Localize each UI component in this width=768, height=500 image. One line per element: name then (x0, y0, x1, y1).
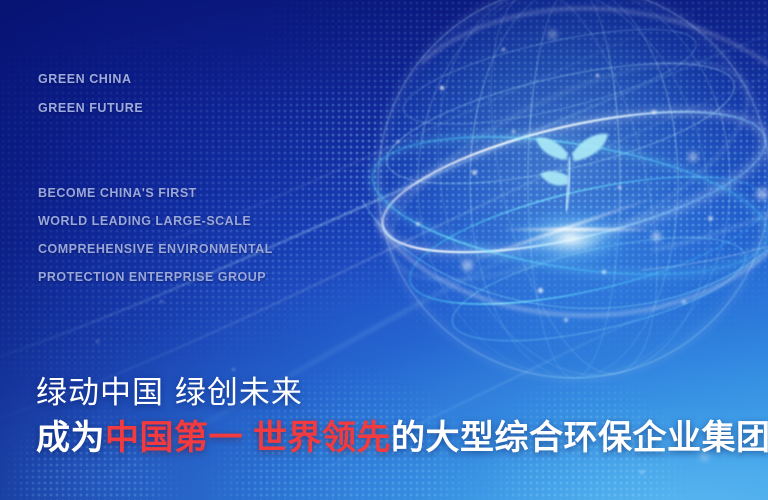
claim-line-2: WORLD LEADING LARGE-SCALE (38, 214, 251, 228)
headline-prefix: 成为 (36, 418, 105, 458)
particle (396, 140, 399, 143)
particle (596, 74, 599, 77)
particle (160, 300, 163, 303)
particle (756, 188, 768, 200)
particle (462, 260, 473, 271)
claim-line-4: PROTECTION ENTERPRISE GROUP (38, 270, 266, 284)
headline-highlight-china-first: 中国第一 (105, 418, 243, 458)
particle (502, 48, 505, 51)
core-light-ray (502, 228, 652, 231)
particle (564, 318, 568, 322)
claim-line-3: COMPREHENSIVE ENVIRONMENTAL (38, 242, 273, 256)
headline-suffix: 的大型综合环保企业集团 (391, 418, 768, 458)
particle (416, 222, 420, 226)
particle (512, 130, 515, 133)
particle (538, 288, 543, 293)
particle (640, 470, 644, 474)
headline-line-2: 成为中国第一世界领先的大型综合环保企业集团 (36, 410, 768, 459)
particle (682, 300, 686, 304)
claim-line-1: BECOME CHINA'S FIRST (38, 186, 197, 200)
particle (96, 340, 99, 343)
particle (652, 110, 656, 114)
eyebrow-line-2: GREEN FUTURE (38, 101, 143, 115)
headline-line-1: 绿动中国 绿创未来 (36, 367, 303, 412)
particle (618, 186, 621, 189)
particle (708, 216, 713, 221)
headline-highlight-world-leading: 世界领先 (253, 418, 391, 458)
sprout-icon (524, 118, 616, 214)
particle (548, 30, 557, 39)
particle (440, 86, 444, 90)
eyebrow-line-1: GREEN CHINA (38, 72, 132, 86)
particle (602, 270, 606, 274)
wireframe-globe (352, 0, 768, 400)
particle (472, 170, 477, 175)
particle (688, 152, 698, 162)
promo-banner: GREEN CHINA GREEN FUTURE BECOME CHINA'S … (0, 0, 768, 500)
particle (652, 232, 661, 241)
